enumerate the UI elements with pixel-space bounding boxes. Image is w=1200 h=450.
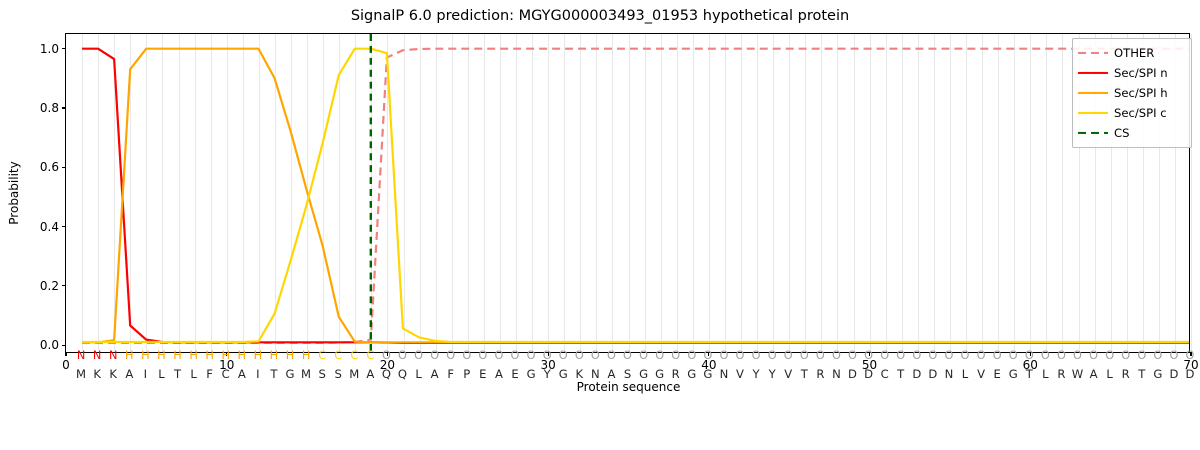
legend-label: Sec/SPI n: [1114, 66, 1168, 80]
region-annotation-letter: O: [543, 345, 552, 366]
legend-swatch: [1078, 87, 1108, 99]
amino-acid-letter: V: [784, 364, 792, 385]
amino-acid-letter: M: [301, 364, 311, 385]
region-annotation-letter: O: [816, 345, 825, 366]
signalp-plot-figure: SignalP 6.0 prediction: MGYG000003493_01…: [0, 0, 1200, 450]
region-annotation-letter: H: [221, 345, 230, 366]
legend-item-sec-spi-h[interactable]: Sec/SPI h: [1078, 83, 1186, 103]
amino-acid-letter: Q: [382, 364, 391, 385]
amino-acid-letter: K: [93, 364, 101, 385]
amino-acid-letter: T: [270, 364, 277, 385]
region-annotation-letter: O: [864, 345, 873, 366]
amino-acid-letter: Y: [544, 364, 551, 385]
legend-label: OTHER: [1114, 46, 1154, 60]
amino-acid-letter: D: [1169, 364, 1178, 385]
legend-swatch: [1078, 127, 1108, 139]
region-annotation-letter: H: [157, 345, 166, 366]
amino-acid-letter: L: [190, 364, 196, 385]
amino-acid-letter: I: [256, 364, 259, 385]
amino-acid-letter: Y: [753, 364, 760, 385]
region-annotation-letter: H: [189, 345, 198, 366]
region-annotation-letter: O: [944, 345, 953, 366]
region-annotation-letter: O: [511, 345, 520, 366]
amino-acid-letter: K: [575, 364, 583, 385]
region-annotation-letter: N: [93, 345, 101, 366]
region-annotation-letter: O: [639, 345, 648, 366]
region-annotation-letter: O: [1073, 345, 1082, 366]
region-annotation-letter: H: [254, 345, 263, 366]
amino-acid-letter: W: [1072, 364, 1083, 385]
region-annotation-letter: O: [591, 345, 600, 366]
series-line-sec-spi-c: [82, 49, 1189, 342]
amino-acid-letter: S: [335, 364, 342, 385]
region-annotation-letter: O: [784, 345, 793, 366]
amino-acid-letter: E: [479, 364, 486, 385]
region-annotation-letter: O: [719, 345, 728, 366]
region-annotation-letter: H: [302, 345, 311, 366]
region-annotation-letter: H: [173, 345, 182, 366]
amino-acid-letter: T: [1026, 364, 1033, 385]
legend-swatch: [1078, 47, 1108, 59]
amino-acid-letter: M: [349, 364, 359, 385]
legend-item-cs[interactable]: CS: [1078, 123, 1186, 143]
region-annotation-letter: O: [575, 345, 584, 366]
region-annotation-letter: O: [398, 345, 407, 366]
series-line-other: [82, 49, 1189, 343]
amino-acid-letter: E: [993, 364, 1000, 385]
region-annotation-letter: C: [334, 345, 342, 366]
legend-item-sec-spi-n[interactable]: Sec/SPI n: [1078, 63, 1186, 83]
amino-acid-letter: A: [238, 364, 246, 385]
amino-acid-letter: D: [928, 364, 937, 385]
amino-acid-letter: G: [286, 364, 295, 385]
region-annotation-letter: O: [961, 345, 970, 366]
region-annotation-letter: N: [109, 345, 117, 366]
amino-acid-letter: L: [415, 364, 421, 385]
amino-acid-letter: G: [527, 364, 536, 385]
amino-acid-letter: T: [1138, 364, 1145, 385]
region-annotation-row: NNNHHHHHHHHHHHHCCCCOOOOOOOOOOOOOOOOOOOOO…: [65, 345, 1190, 366]
region-annotation-letter: H: [270, 345, 279, 366]
region-annotation-letter: H: [238, 345, 247, 366]
region-annotation-letter: O: [1057, 345, 1066, 366]
amino-acid-letter: V: [977, 364, 985, 385]
amino-acid-letter: Q: [398, 364, 407, 385]
legend-label: Sec/SPI c: [1114, 106, 1167, 120]
amino-acid-letter: R: [1122, 364, 1130, 385]
amino-acid-letter: D: [1186, 364, 1195, 385]
amino-acid-letter: A: [495, 364, 503, 385]
amino-acid-letter: C: [881, 364, 889, 385]
region-annotation-letter: O: [993, 345, 1002, 366]
amino-acid-letter: A: [1090, 364, 1098, 385]
amino-acid-letter: R: [816, 364, 824, 385]
region-annotation-letter: H: [125, 345, 134, 366]
amino-acid-letter: T: [801, 364, 808, 385]
region-annotation-letter: O: [1186, 345, 1195, 366]
amino-acid-letter: G: [1009, 364, 1018, 385]
region-annotation-letter: O: [848, 345, 857, 366]
region-annotation-letter: O: [1137, 345, 1146, 366]
amino-acid-letter: L: [1106, 364, 1112, 385]
amino-acid-letter: A: [125, 364, 133, 385]
amino-acid-letter: N: [591, 364, 600, 385]
legend-label: Sec/SPI h: [1114, 86, 1168, 100]
plot-area: Probability 0.00.20.40.60.81.0 010203040…: [65, 33, 1190, 353]
amino-acid-letter: A: [431, 364, 439, 385]
region-annotation-letter: C: [350, 345, 358, 366]
region-annotation-letter: O: [896, 345, 905, 366]
region-annotation-letter: O: [1041, 345, 1050, 366]
amino-acid-letter: T: [174, 364, 181, 385]
amino-acid-letter: R: [1057, 364, 1065, 385]
region-annotation-letter: O: [414, 345, 423, 366]
amino-acid-letter: L: [1042, 364, 1048, 385]
amino-acid-letter: F: [206, 364, 213, 385]
amino-acid-letter: M: [76, 364, 86, 385]
amino-acid-letter: N: [945, 364, 954, 385]
amino-acid-letter: Y: [769, 364, 776, 385]
y-tick-mark: [62, 285, 66, 286]
region-annotation-letter: O: [462, 345, 471, 366]
amino-acid-letter: F: [447, 364, 454, 385]
y-tick-mark: [62, 48, 66, 49]
amino-acid-letter: L: [158, 364, 164, 385]
region-annotation-letter: O: [559, 345, 568, 366]
y-tick-mark: [62, 226, 66, 227]
region-annotation-letter: O: [880, 345, 889, 366]
amino-acid-letter: A: [607, 364, 615, 385]
region-annotation-letter: O: [1121, 345, 1130, 366]
legend-item-sec-spi-c[interactable]: Sec/SPI c: [1078, 103, 1186, 123]
amino-acid-letter: A: [366, 364, 374, 385]
region-annotation-letter: O: [736, 345, 745, 366]
region-annotation-letter: O: [768, 345, 777, 366]
region-annotation-letter: H: [141, 345, 150, 366]
sequence-track: NNNHHHHHHHHHHHHCCCCOOOOOOOOOOOOOOOOOOOOO…: [65, 345, 1190, 387]
amino-acid-letter: D: [912, 364, 921, 385]
amino-acid-letter: C: [222, 364, 230, 385]
region-annotation-letter: O: [1105, 345, 1114, 366]
amino-acid-letter: K: [109, 364, 117, 385]
amino-acid-letter: G: [687, 364, 696, 385]
region-annotation-letter: H: [286, 345, 295, 366]
region-annotation-letter: O: [752, 345, 761, 366]
amino-acid-letter: S: [318, 364, 325, 385]
region-annotation-letter: O: [494, 345, 503, 366]
region-annotation-letter: O: [478, 345, 487, 366]
region-annotation-letter: O: [687, 345, 696, 366]
amino-acid-letter: N: [720, 364, 729, 385]
region-annotation-letter: C: [366, 345, 374, 366]
region-annotation-letter: O: [912, 345, 921, 366]
region-annotation-letter: O: [1009, 345, 1018, 366]
region-annotation-letter: C: [318, 345, 326, 366]
region-annotation-letter: O: [655, 345, 664, 366]
region-annotation-letter: O: [671, 345, 680, 366]
y-tick-mark: [62, 107, 66, 108]
amino-acid-letter: P: [463, 364, 470, 385]
series-line-sec-spi-h: [82, 49, 1189, 343]
region-annotation-letter: O: [832, 345, 841, 366]
legend-label: CS: [1114, 126, 1129, 140]
y-tick-mark: [62, 167, 66, 168]
region-annotation-letter: O: [977, 345, 986, 366]
region-annotation-letter: O: [1169, 345, 1178, 366]
curves-layer: [66, 34, 1189, 352]
amino-acid-letter: G: [1153, 364, 1162, 385]
region-annotation-letter: O: [446, 345, 455, 366]
amino-acid-letter: T: [897, 364, 904, 385]
page-title: SignalP 6.0 prediction: MGYG000003493_01…: [0, 8, 1200, 24]
amino-acid-letter: L: [962, 364, 968, 385]
series-line-sec-spi-n: [82, 49, 1189, 343]
amino-acid-letter: V: [736, 364, 744, 385]
legend: OTHERSec/SPI nSec/SPI hSec/SPI cCS: [1072, 38, 1192, 148]
amino-acid-letter: D: [864, 364, 873, 385]
region-annotation-letter: O: [382, 345, 391, 366]
legend-item-other[interactable]: OTHER: [1078, 43, 1186, 63]
region-annotation-letter: O: [623, 345, 632, 366]
amino-acid-letter: E: [511, 364, 518, 385]
legend-swatch: [1078, 107, 1108, 119]
region-annotation-letter: O: [607, 345, 616, 366]
region-annotation-letter: O: [928, 345, 937, 366]
region-annotation-letter: O: [1025, 345, 1034, 366]
amino-acid-letter: I: [144, 364, 147, 385]
region-annotation-letter: O: [527, 345, 536, 366]
amino-acid-letter: G: [703, 364, 712, 385]
amino-acid-letter: G: [639, 364, 648, 385]
region-annotation-letter: N: [77, 345, 85, 366]
region-annotation-letter: O: [703, 345, 712, 366]
region-annotation-letter: O: [430, 345, 439, 366]
region-annotation-letter: O: [1089, 345, 1098, 366]
amino-acid-letter: D: [848, 364, 857, 385]
amino-acid-letter: S: [624, 364, 631, 385]
region-annotation-letter: O: [800, 345, 809, 366]
amino-acid-letter: N: [832, 364, 841, 385]
legend-swatch: [1078, 67, 1108, 79]
amino-acid-letter: G: [655, 364, 664, 385]
amino-acid-letter: G: [559, 364, 568, 385]
amino-acid-letter: R: [672, 364, 680, 385]
amino-acid-row: MKKAILTLFCAITGMSSMAQQLAFPEAEGYGKNASGGRGG…: [65, 364, 1190, 385]
region-annotation-letter: O: [1153, 345, 1162, 366]
region-annotation-letter: H: [205, 345, 214, 366]
y-axis-label: Probability: [7, 161, 21, 224]
